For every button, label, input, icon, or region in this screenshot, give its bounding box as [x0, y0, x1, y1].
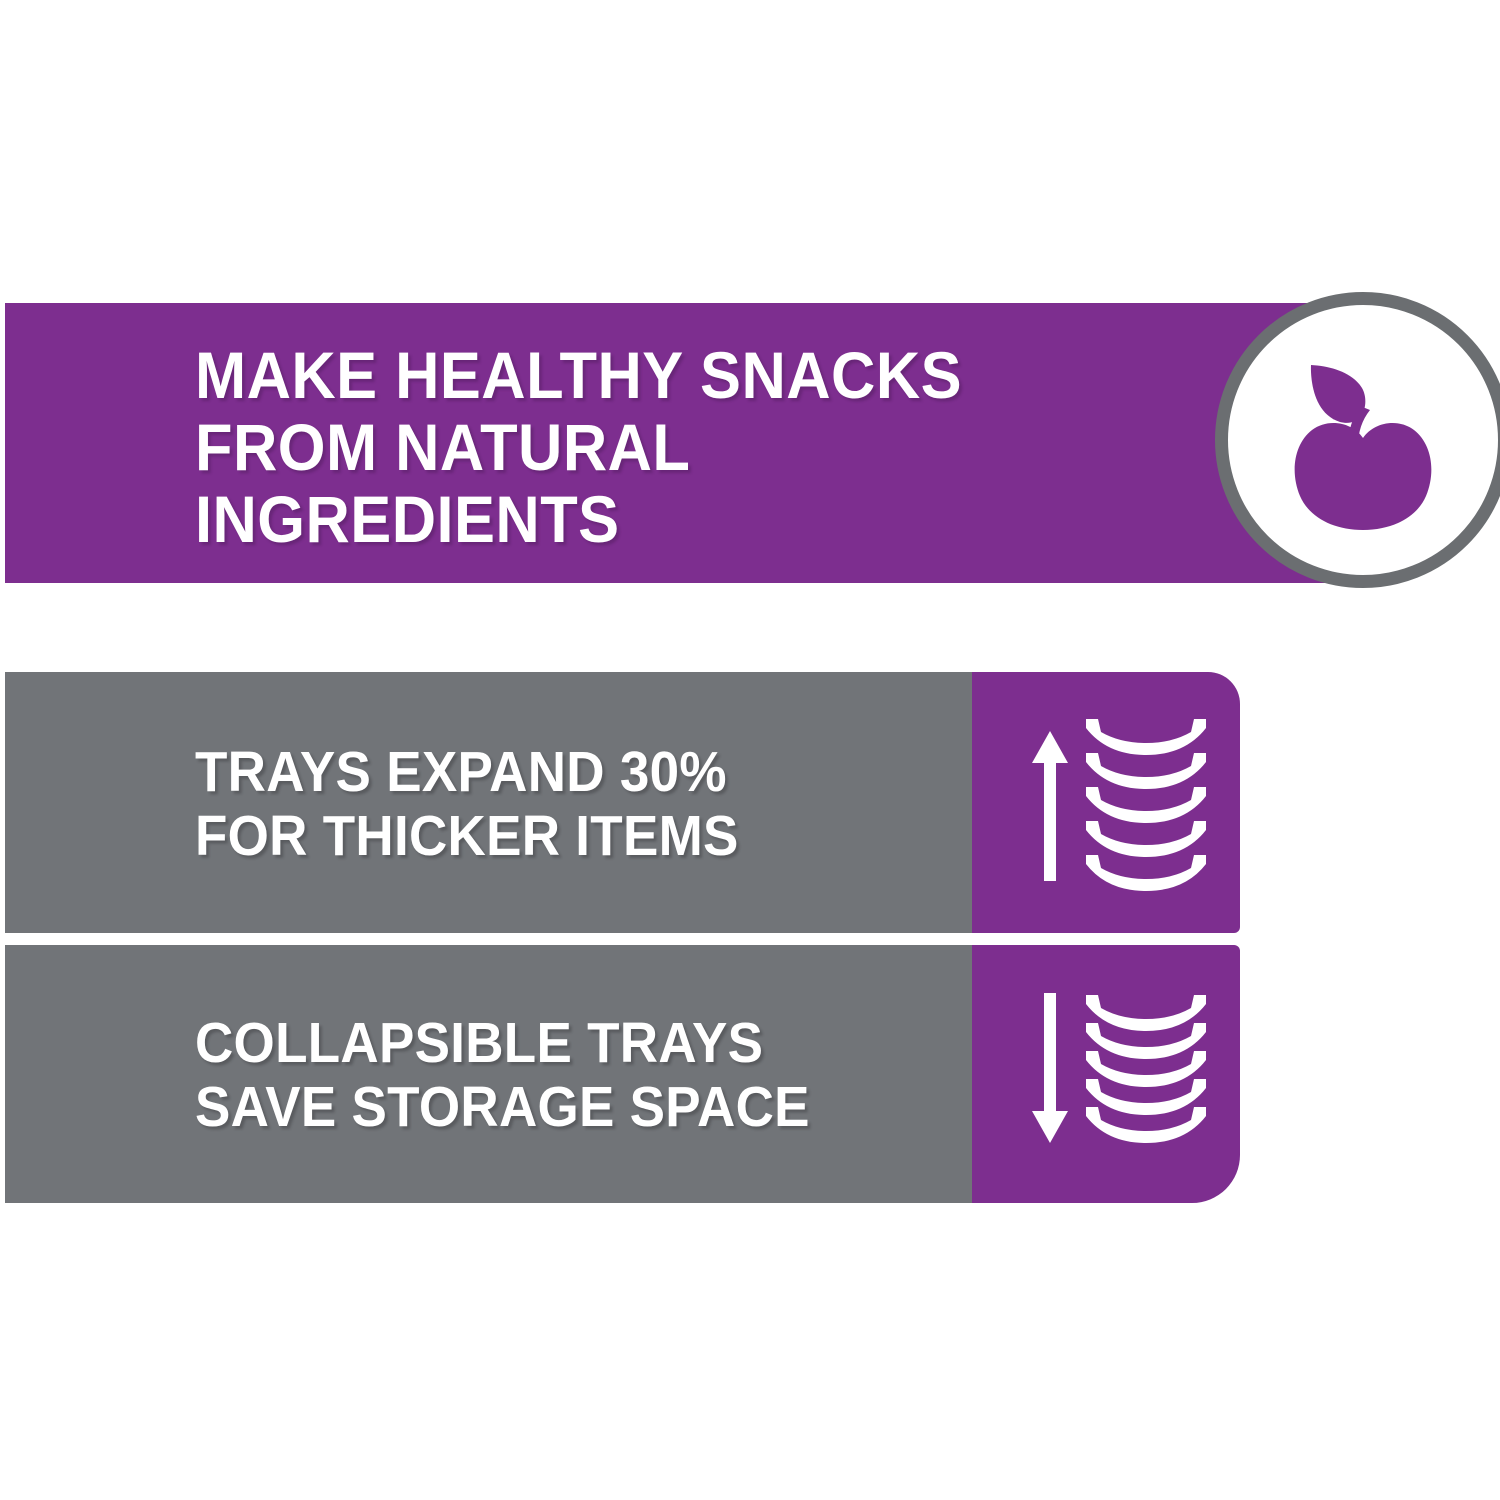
headline-banner: MAKE HEALTHY SNACKS FROM NATURAL INGREDI… — [5, 303, 1375, 583]
headline-text: MAKE HEALTHY SNACKS FROM NATURAL INGREDI… — [195, 339, 1181, 555]
feature-label-trays-collapse: COLLAPSIBLE TRAYS SAVE STORAGE SPACE — [195, 1011, 902, 1139]
trays-expand-up-arrow-icon — [1015, 699, 1225, 907]
feature-label-trays-expand: TRAYS EXPAND 30% FOR THICKER ITEMS — [195, 740, 902, 868]
apple-badge-circle — [1215, 292, 1500, 588]
feature-row-trays-collapse: COLLAPSIBLE TRAYS SAVE STORAGE SPACE — [5, 945, 1240, 1203]
feature-row-trays-expand: TRAYS EXPAND 30% FOR THICKER ITEMS — [5, 672, 1240, 933]
apple-icon — [1228, 305, 1498, 575]
trays-collapse-down-arrow-icon — [1015, 980, 1225, 1170]
marketing-graphic: MAKE HEALTHY SNACKS FROM NATURAL INGREDI… — [0, 0, 1500, 1500]
